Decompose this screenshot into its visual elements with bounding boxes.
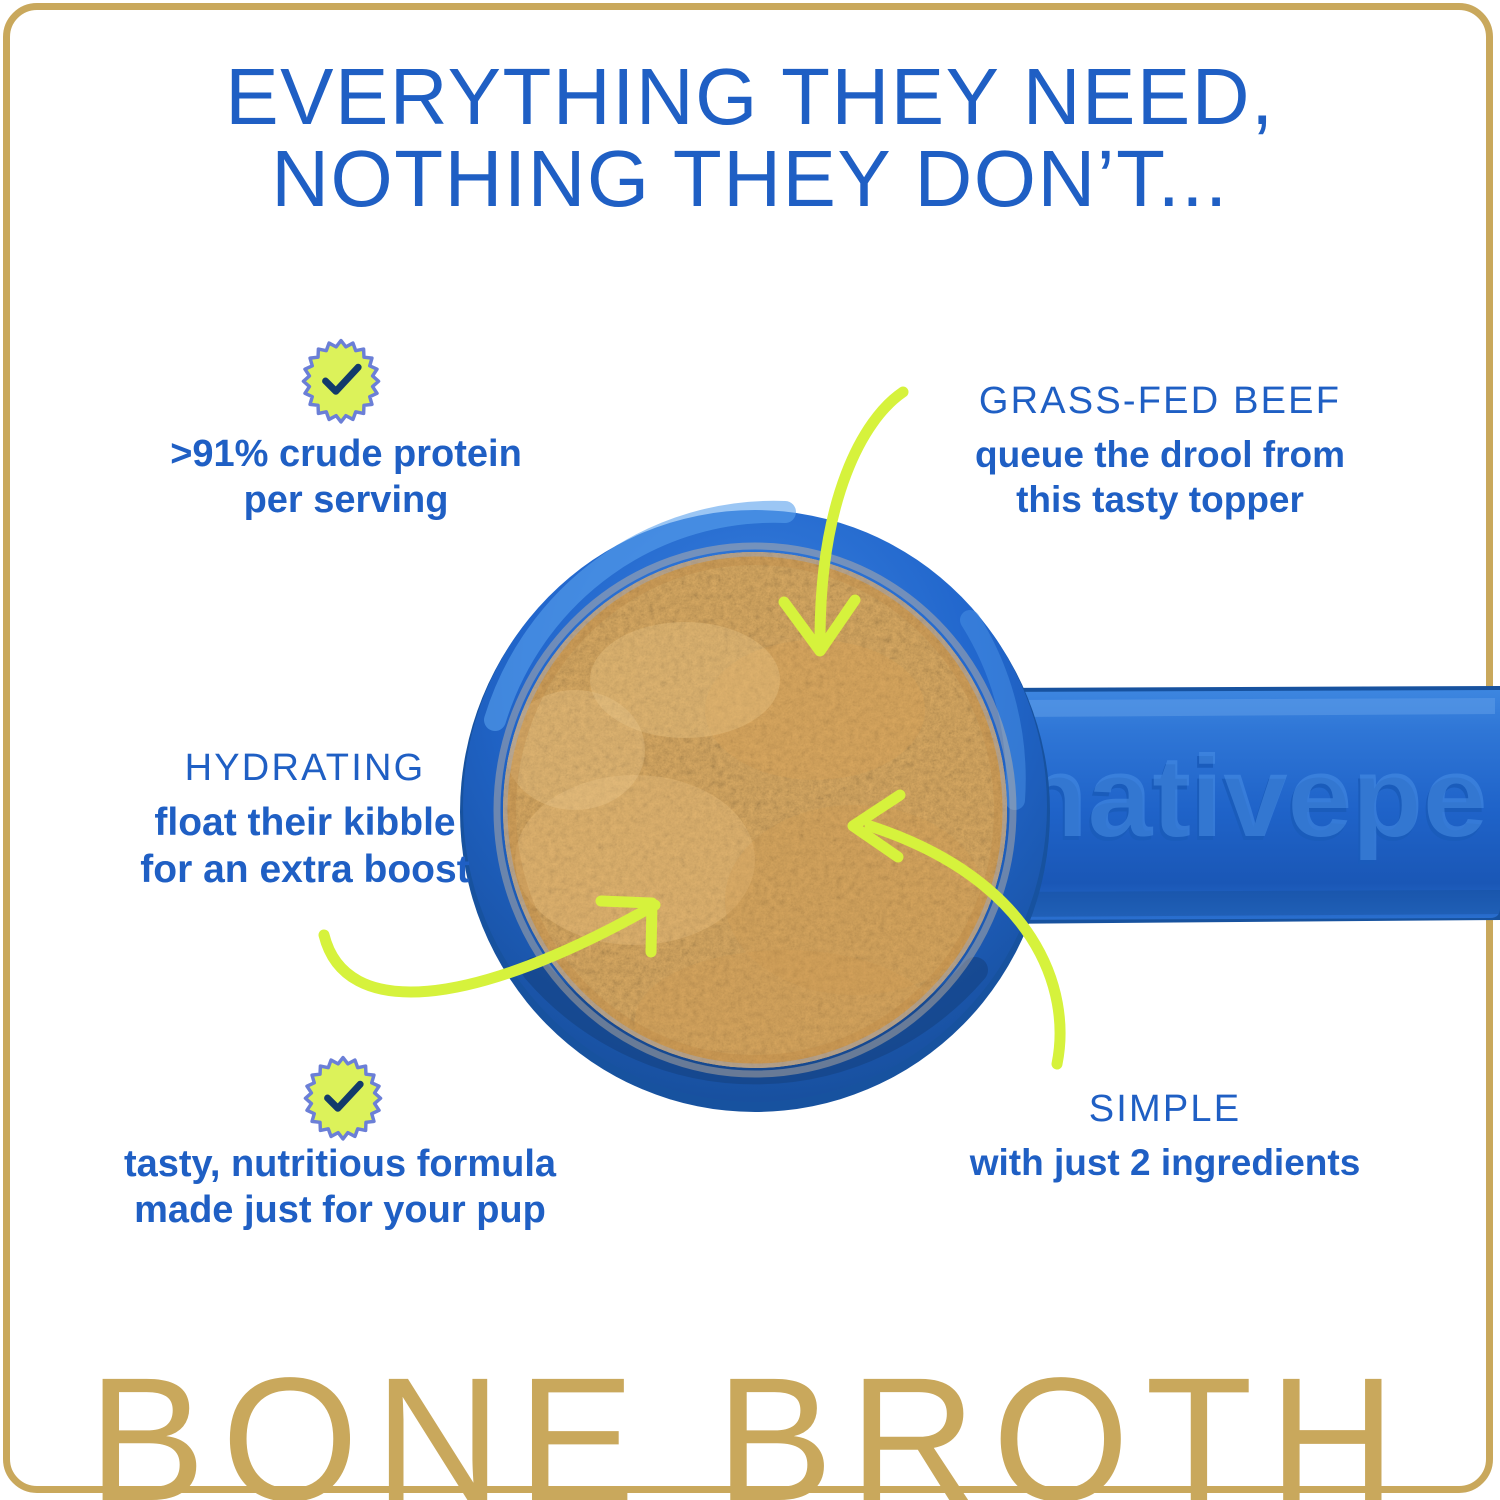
callout-tasty-formula: tasty, nutritious formula made just for … [80,1142,600,1233]
svg-text:nativepe: nativepe [1017,731,1488,861]
infographic-page: EVERYTHING THEY NEED, NOTHING THEY DON’T… [0,0,1500,1500]
headline-line-1: EVERYTHING THEY NEED, [0,56,1500,138]
callout-simple-heading: SIMPLE [940,1086,1390,1132]
callout-simple-body: with just 2 ingredients [940,1141,1390,1185]
check-starburst-badge-icon [298,338,384,424]
product-photo-scoop: nativepe nativepe [455,500,1500,1120]
callout-grass-fed-beef: GRASS-FED BEEF queue the drool from this… [910,378,1410,522]
callout-beef-body: queue the drool from this tasty topper [910,433,1410,522]
callout-hydrating-body: float their kibble for an extra boost [60,800,550,894]
callout-simple: SIMPLE with just 2 ingredients [940,1086,1390,1186]
callout-tasty-body: tasty, nutritious formula made just for … [80,1142,600,1233]
callout-protein-body: >91% crude protein per serving [96,432,596,523]
headline-line-2: NOTHING THEY DON’T... [0,138,1500,220]
callout-protein: >91% crude protein per serving [96,432,596,523]
callout-hydrating-heading: HYDRATING [60,745,550,791]
scoop-handle: nativepe nativepe [975,686,1500,924]
callout-beef-heading: GRASS-FED BEEF [910,378,1410,424]
page-title: EVERYTHING THEY NEED, NOTHING THEY DON’T… [0,56,1500,221]
check-starburst-badge-icon [300,1055,386,1141]
callout-hydrating: HYDRATING float their kibble for an extr… [60,745,550,894]
product-wordmark: BONE BROTH [0,1352,1500,1500]
